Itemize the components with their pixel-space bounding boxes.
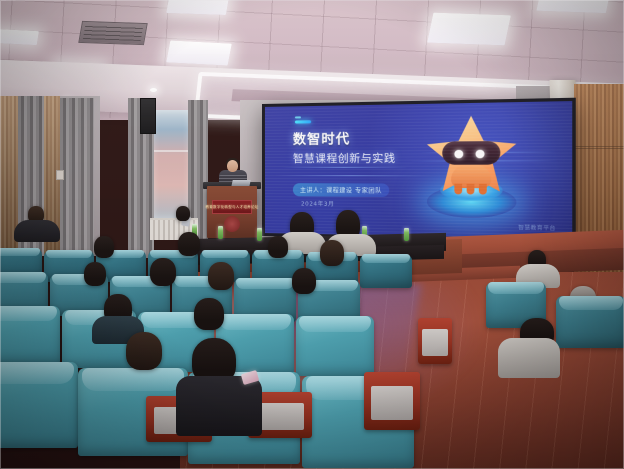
mascot-eye-right [476, 150, 485, 159]
mascot-visor [442, 141, 500, 165]
podium-banner-text: 教育数字化转型与人才培养论坛 [213, 201, 251, 213]
auditorium-seat[interactable] [0, 306, 60, 364]
slide-accent-bar [295, 120, 311, 123]
audience-head [150, 258, 176, 286]
presenter-head [227, 160, 238, 172]
seat-armrest [364, 372, 420, 430]
auditorium-seat[interactable] [556, 296, 624, 348]
ceiling-panel-light [0, 29, 39, 45]
mascot-leg [467, 184, 475, 195]
seat-armrest [418, 318, 452, 364]
audience-head [208, 262, 234, 290]
window [152, 110, 190, 218]
audience-shoulders [14, 220, 60, 242]
audience-head [94, 236, 114, 258]
audience-head [84, 262, 106, 286]
air-conditioning-vent [78, 21, 147, 45]
ceiling-panel-light [166, 40, 232, 65]
slide-accent-dot [295, 116, 301, 118]
audience-head [176, 206, 190, 221]
water-bottle[interactable] [218, 226, 223, 239]
slide-presenter-pill: 主讲人：课程建设 专家团队 [293, 183, 389, 197]
audience-head [292, 268, 316, 294]
mascot-eye-left [454, 150, 463, 159]
water-bottle[interactable] [257, 228, 262, 241]
audience-head [268, 236, 288, 258]
audience-head [178, 232, 200, 256]
audience-head [194, 298, 224, 330]
auditorium-seat[interactable] [0, 362, 78, 448]
slide-watermark: 智慧教育平台 [518, 224, 556, 232]
slide-title: 数智时代 [293, 128, 350, 148]
water-bottle[interactable] [404, 228, 409, 241]
wall-speaker [140, 98, 156, 134]
star-robot-mascot-icon [418, 113, 525, 225]
mascot-leg [454, 184, 462, 195]
podium-banner: 教育数字化转型与人才培养论坛 [212, 200, 252, 214]
audience-head [320, 240, 344, 266]
wall-switch-plate[interactable] [56, 170, 64, 180]
ceiling-panel-light [427, 13, 511, 46]
window-mullion [152, 150, 190, 152]
audience-shoulders [498, 338, 560, 378]
audience-head [126, 332, 162, 370]
slide-date: 2024年3月 [301, 199, 334, 207]
downlight [150, 88, 157, 92]
podium-emblem [224, 216, 240, 232]
slide-subtitle: 智慧课程创新与实践 [293, 150, 396, 166]
auditorium-seat[interactable] [296, 316, 374, 376]
auditorium-seat[interactable] [360, 254, 412, 288]
audience-shoulders [176, 376, 262, 436]
ceiling-panel-light [166, 0, 230, 15]
mascot-leg [479, 184, 487, 195]
window-curtain [60, 98, 94, 256]
lecture-hall-photo: 数智时代 智慧课程创新与实践 主讲人：课程建设 专家团队 2024年3月 智慧教… [0, 0, 624, 469]
